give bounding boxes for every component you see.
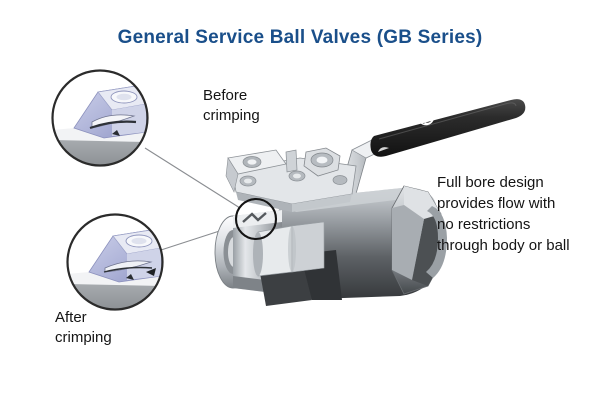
label-before-crimping-line2: crimping — [203, 106, 260, 126]
inset-before-crimping — [52, 70, 148, 166]
full-bore-line2: provides flow with — [437, 193, 587, 214]
handle-grip — [370, 93, 525, 157]
label-after-crimping-line2: crimping — [55, 328, 112, 348]
full-bore-line1: Full bore design — [437, 172, 587, 193]
valve-hex-nut-right — [392, 186, 441, 294]
inset-after-crimping — [67, 214, 163, 310]
diagram-canvas: General Service Ball Valves (GB Series) … — [0, 0, 600, 400]
label-before-crimping-line1: Before — [203, 86, 260, 106]
label-after-crimping: After crimping — [55, 308, 112, 348]
page-title: General Service Ball Valves (GB Series) — [0, 27, 600, 49]
stem-indicator-tab — [286, 150, 297, 172]
full-bore-line3: no restrictions — [437, 214, 587, 235]
full-bore-line4: through body or ball — [437, 235, 587, 256]
label-before-crimping: Before crimping — [203, 86, 260, 126]
label-full-bore-design: Full bore design provides flow with no r… — [437, 172, 587, 256]
label-after-crimping-line1: After — [55, 308, 112, 328]
